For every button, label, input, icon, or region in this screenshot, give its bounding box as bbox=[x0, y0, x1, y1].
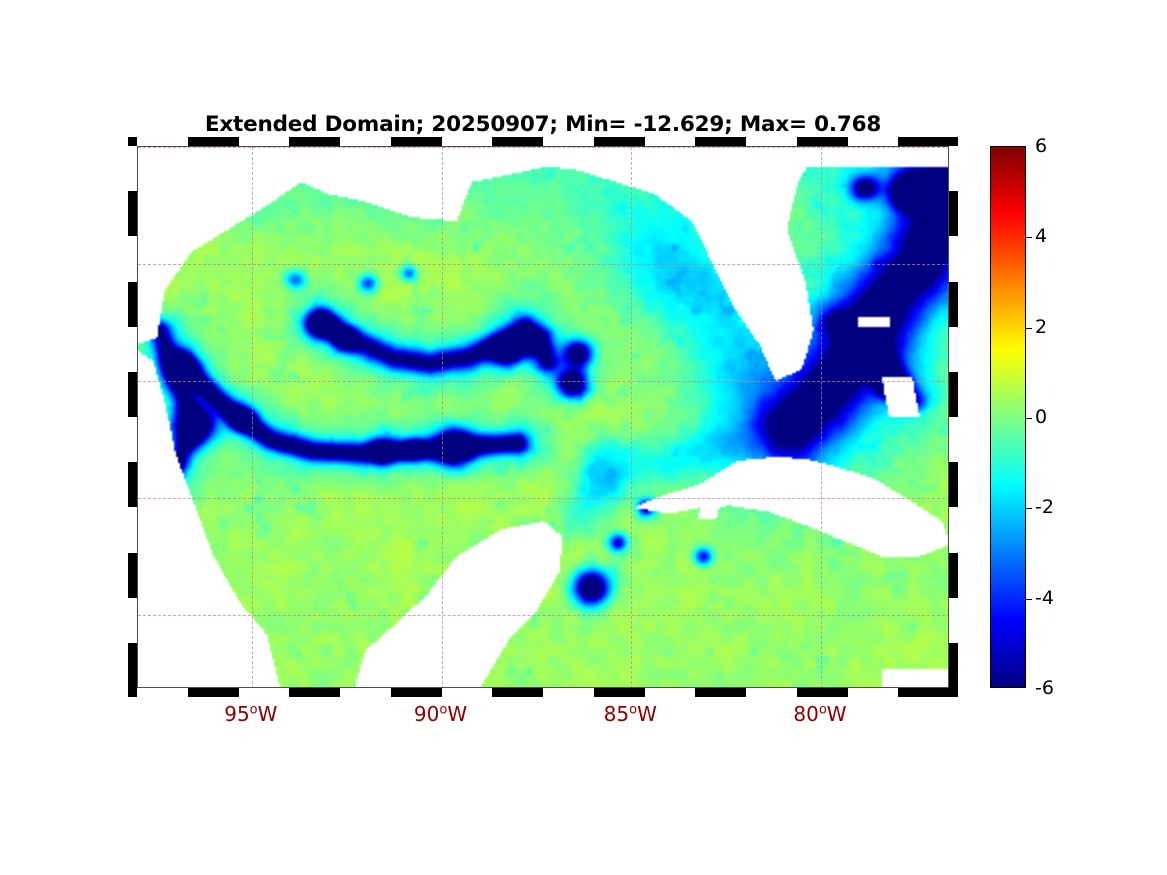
page-title: Extended Domain; 20250907; Min= -12.629;… bbox=[137, 112, 949, 137]
colorbar-label-4: 4 bbox=[1035, 225, 1047, 247]
colorbar-tick bbox=[1025, 328, 1032, 329]
map-axes: 30oN27oN24oN21oN18oN 95oW90oW85oW80oW bbox=[137, 146, 949, 688]
colorbar-gradient bbox=[991, 147, 1025, 687]
colorbar bbox=[990, 146, 1026, 688]
frame-bottom bbox=[128, 688, 958, 697]
sst-anomaly-raster bbox=[138, 147, 949, 688]
colorbar-label-2: 2 bbox=[1035, 316, 1047, 338]
figure-canvas: Extended Domain; 20250907; Min= -12.629;… bbox=[0, 0, 1167, 875]
frame-right bbox=[949, 146, 958, 688]
colorbar-label--2: -2 bbox=[1035, 496, 1054, 518]
colorbar-label--6: -6 bbox=[1035, 677, 1054, 699]
colorbar-tick bbox=[1025, 599, 1032, 600]
frame-left bbox=[128, 146, 137, 688]
colorbar-label-0: 0 bbox=[1035, 406, 1047, 428]
colorbar-tick bbox=[1025, 508, 1032, 509]
colorbar-tick bbox=[1025, 237, 1032, 238]
lon-tick-label-85: 85oW bbox=[604, 702, 657, 726]
frame-top bbox=[128, 137, 958, 146]
colorbar-tick bbox=[1025, 418, 1032, 419]
axis-box bbox=[137, 146, 949, 688]
lon-tick-label-80: 80oW bbox=[793, 702, 846, 726]
lon-tick-label-95: 95oW bbox=[224, 702, 277, 726]
colorbar-label-6: 6 bbox=[1035, 135, 1047, 157]
colorbar-label--4: -4 bbox=[1035, 587, 1054, 609]
lon-tick-label-90: 90oW bbox=[414, 702, 467, 726]
